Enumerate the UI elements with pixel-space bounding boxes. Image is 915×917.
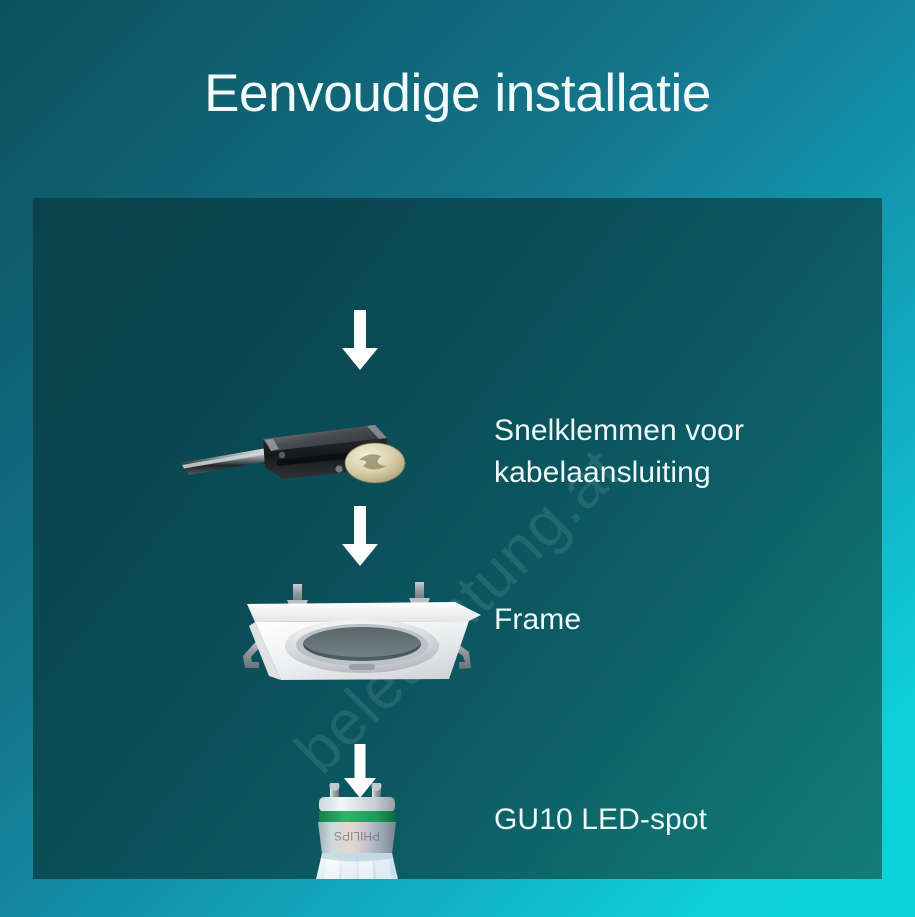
step-label-snelklemmen: Snelklemmen voor kabelaansluiting bbox=[494, 410, 744, 494]
frame-top-bevel bbox=[247, 602, 481, 622]
lamp-brand-text: PHILIPS bbox=[334, 829, 380, 843]
aperture-highlight bbox=[303, 627, 421, 657]
mount-base-right bbox=[409, 598, 430, 603]
screw-right bbox=[335, 465, 342, 472]
down-arrow-icon-1 bbox=[339, 310, 381, 372]
ring-latch-slot bbox=[349, 664, 375, 670]
installation-poster: Eenvoudige installatie beleuchtung.at bbox=[0, 0, 915, 917]
down-arrow-icon-3 bbox=[341, 744, 379, 800]
terminal-block-illustration bbox=[179, 416, 409, 506]
down-arrow-icon-2 bbox=[339, 506, 381, 568]
page-title: Eenvoudige installatie bbox=[0, 63, 915, 124]
step-label-gu10-led-spot: GU10 LED-spot bbox=[494, 799, 707, 841]
recessed-frame-illustration bbox=[219, 576, 485, 686]
step-label-frame: Frame bbox=[494, 599, 581, 641]
screw-left bbox=[279, 452, 285, 458]
diagram-panel: beleuchtung.at bbox=[33, 198, 882, 879]
